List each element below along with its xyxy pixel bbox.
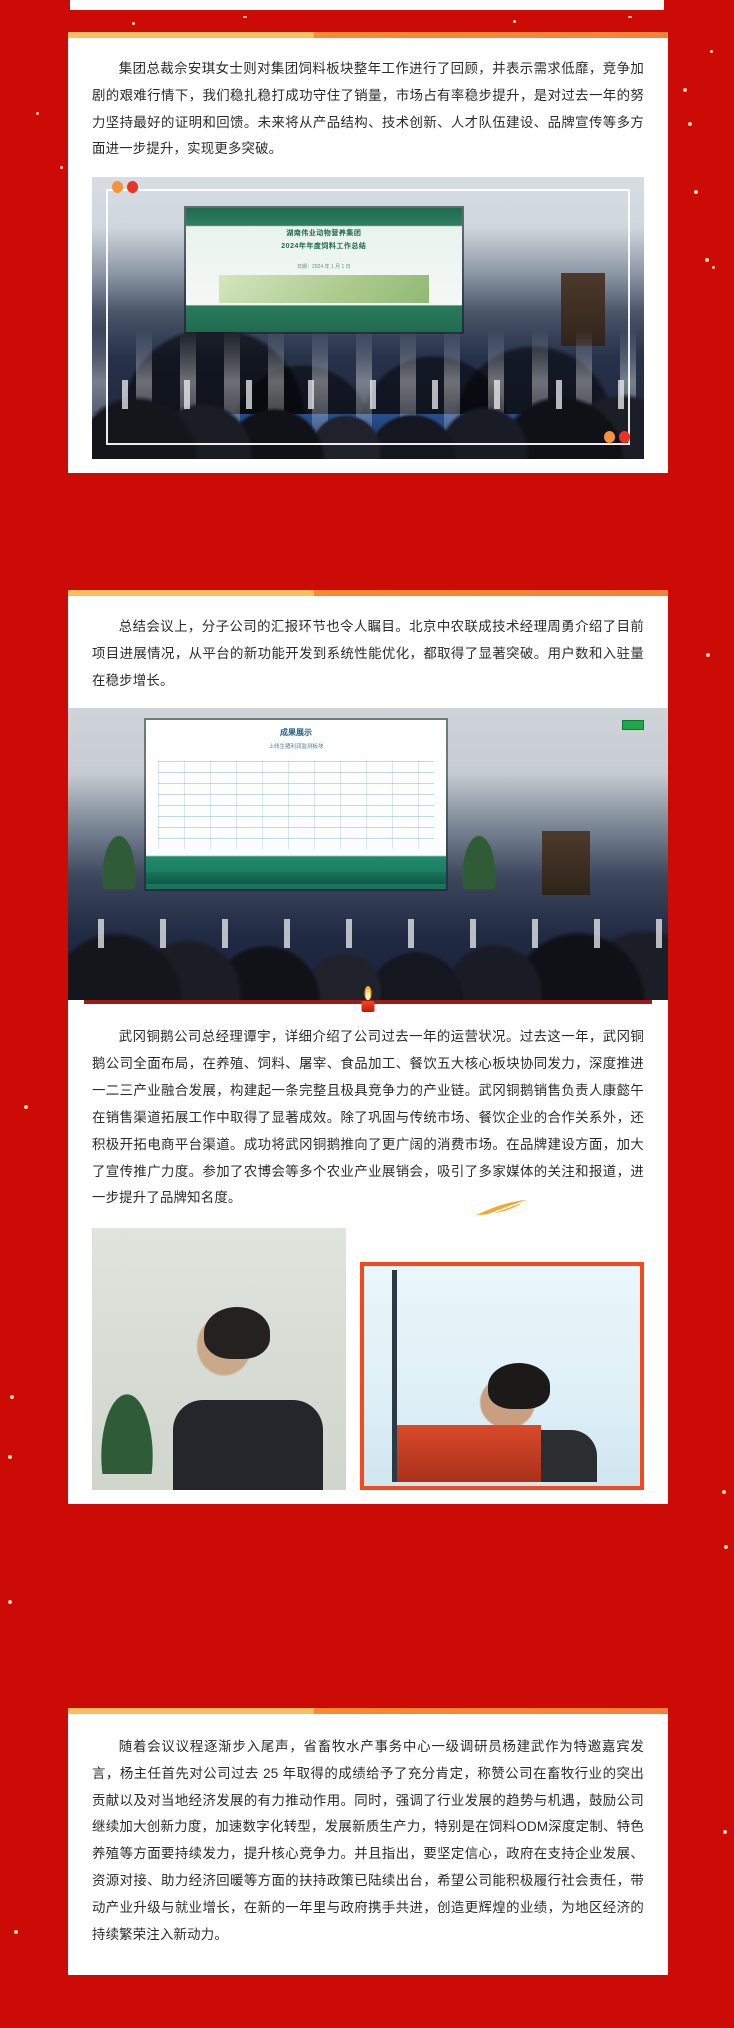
confetti-dot — [683, 88, 687, 92]
confetti-dot — [688, 122, 692, 126]
paragraph-ceo-review: 集团总裁佘安琪女士则对集团饲料板块整年工作进行了回顾，并表示需求低靡，竞争加剧的… — [92, 56, 644, 163]
confetti-dot — [722, 1490, 726, 1494]
screen-title: 成果展示 — [146, 727, 446, 738]
photo-dots-top-left — [112, 181, 138, 193]
confetti-dot — [694, 190, 698, 194]
screen-title-line1: 湖南伟业动物营养集团 — [186, 229, 462, 240]
red-dot-icon — [619, 431, 630, 443]
podium-icon — [397, 1425, 541, 1482]
card-body-secondary: 武冈铜鹅公司总经理谭宇，详细介绍了公司过去一年的运营状况。过去这一年，武冈铜鹅公… — [68, 1010, 668, 1504]
confetti-dot — [36, 112, 39, 115]
photo-dots-bottom-right — [604, 431, 630, 443]
card-ceo-review: 集团总裁佘安琪女士则对集团饲料板块整年工作进行了回顾，并表示需求低靡，竞争加剧的… — [68, 32, 668, 473]
confetti-dot — [513, 20, 516, 23]
confetti-dot — [8, 1455, 12, 1459]
speaker-portrait-right-wrap — [360, 1228, 644, 1490]
screen-title-line2: 2024年年度饲料工作总结 — [186, 242, 462, 253]
head-icon — [488, 1363, 550, 1409]
candle-body-icon — [362, 1001, 375, 1012]
screen-subtitle: 日期：2024 年 1 月 1 日 — [186, 263, 462, 270]
orange-dot-icon — [112, 181, 123, 193]
water-bottles — [92, 380, 644, 408]
confetti-dot — [132, 22, 135, 25]
speaker-portrait-left — [92, 1228, 346, 1490]
data-table-grid — [158, 761, 434, 849]
paragraph-summary-meeting: 总结会议上，分子公司的汇报环节也令人瞩目。北京中农联成技术经理周勇介绍了目前项目… — [92, 614, 644, 694]
candle-ornament-icon — [360, 986, 376, 1012]
door-jamb — [392, 1270, 397, 1482]
card-summary-meeting: 总结会议上，分子公司的汇报环节也令人瞩目。北京中农联成技术经理周勇介绍了目前项目… — [68, 590, 668, 1504]
red-dot-icon — [127, 181, 138, 193]
speaker-portraits-row — [92, 1228, 644, 1490]
paragraph-tongsheng-goose: 武冈铜鹅公司总经理谭宇，详细介绍了公司过去一年的运营状况。过去这一年，武冈铜鹅公… — [92, 1024, 644, 1212]
confetti-dot — [723, 1830, 727, 1834]
candle-slot — [68, 1004, 668, 1010]
card-body: 随着会议议程逐渐步入尾声，省畜牧水产事务中心一级调研员杨建武作为特邀嘉宾发言，杨… — [68, 1714, 668, 1975]
confetti-dot — [14, 1930, 18, 1934]
confetti-dot — [243, 16, 247, 18]
orange-dot-icon — [604, 431, 615, 443]
card-body: 集团总裁佘安琪女士则对集团饲料板块整年工作进行了回顾，并表示需求低靡，竞争加剧的… — [68, 38, 668, 473]
screen-subtitle: 上线生猪利润监测板块 — [146, 742, 446, 750]
article-page: 集团总裁佘安琪女士则对集团饲料板块整年工作进行了回顾，并表示需求低靡，竞争加剧的… — [0, 0, 734, 2028]
torso-icon — [173, 1400, 323, 1490]
swoosh-ornament-icon — [474, 1198, 530, 1220]
confetti-dot — [628, 16, 632, 18]
palm-plant-icon — [97, 1384, 157, 1474]
confetti-dot — [8, 1600, 12, 1604]
flame-icon — [365, 986, 372, 1000]
card-body: 总结会议上，分子公司的汇报环节也令人瞩目。北京中农联成技术经理周勇介绍了目前项目… — [68, 596, 668, 694]
confetti-dot — [712, 266, 715, 269]
confetti-dot — [60, 166, 63, 169]
data-screen-photo: 成果展示 上线生猪利润监测板块 — [68, 708, 668, 1000]
confetti-dot — [24, 1105, 28, 1109]
confetti-dot — [705, 258, 709, 262]
screen-image — [219, 275, 429, 302]
head-icon — [204, 1307, 270, 1359]
conference-hall-photo: 湖南伟业动物营养集团 2024年年度饲料工作总结 日期：2024 年 1 月 1… — [92, 177, 644, 459]
confetti-dot — [706, 653, 710, 657]
water-bottles — [68, 919, 668, 948]
paragraph-closing-remarks: 随着会议议程逐渐步入尾声，省畜牧水产事务中心一级调研员杨建武作为特邀嘉宾发言，杨… — [92, 1734, 644, 1949]
card-closing-remarks: 随着会议议程逐渐步入尾声，省畜牧水产事务中心一级调研员杨建武作为特邀嘉宾发言，杨… — [68, 1708, 668, 1975]
confetti-dot — [10, 1395, 14, 1399]
exit-sign-icon — [622, 720, 644, 730]
confetti-dot — [710, 50, 713, 53]
speaker-portrait-right-highlighted — [360, 1262, 644, 1490]
confetti-dot — [724, 1545, 728, 1549]
top-white-strip — [70, 0, 664, 10]
